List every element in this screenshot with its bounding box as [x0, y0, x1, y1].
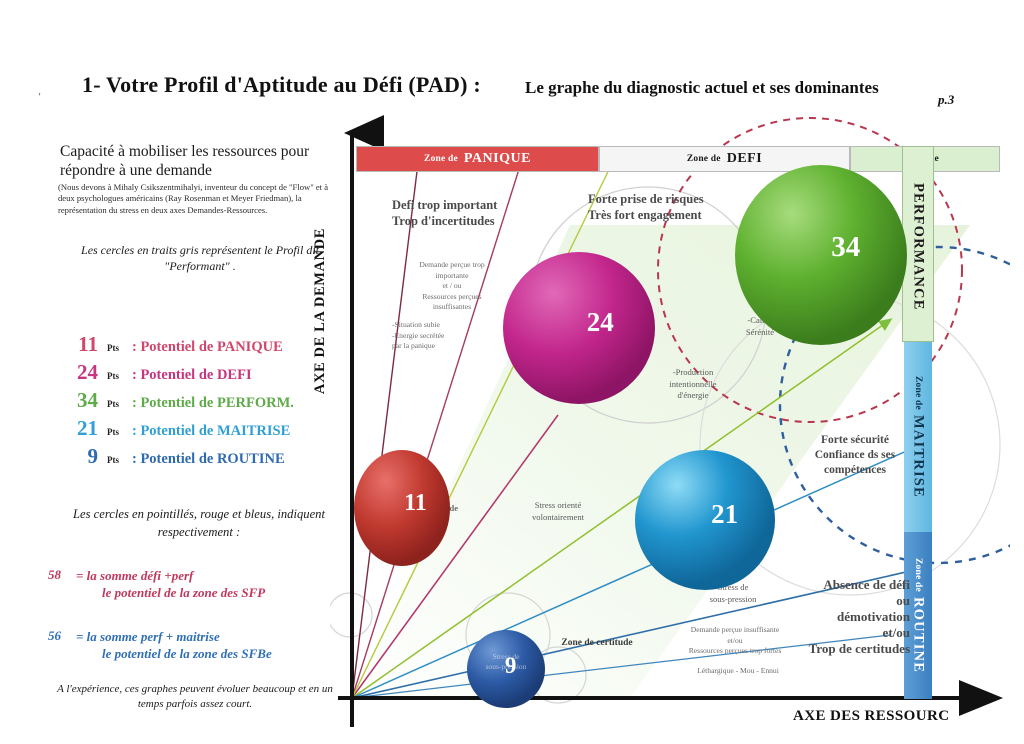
grey-circles-note: Les cercles en traits gris représentent …	[70, 242, 330, 274]
zone-right-performance-big: PERFORMANCE	[910, 178, 927, 311]
annotation-lethargique: Léthargique - Mou - Ennui	[668, 666, 808, 677]
bubble-routine-9[interactable]: Stress de sous-pression 9	[467, 630, 545, 708]
sum-value: 58	[48, 567, 61, 583]
sum-value: 56	[48, 628, 61, 644]
legend-label: : Potentiel de PERFORM.	[123, 395, 294, 412]
annotation-panique-detail: Demande perçue trop importante et / ou R…	[392, 260, 512, 313]
zone-top-panique: Zone de PANIQUE	[356, 146, 599, 172]
zone-right-maitrise-small: Zone de	[913, 376, 923, 410]
sum-line2: le potentiel de la zone des SFP	[76, 584, 265, 601]
bubble-maitrise-value: 21	[711, 499, 738, 530]
dotted-circles-note: Les cercles en pointillés, rouge et bleu…	[68, 505, 330, 541]
page-number: p.3	[938, 92, 954, 108]
legend-label: : Potentiel de PANIQUE	[123, 339, 283, 356]
legend-unit: Pts	[102, 455, 119, 465]
bubble-defi-24[interactable]: 24	[503, 252, 655, 405]
annotation-panique-detail2: -Situation subie -Energie secrétée par l…	[392, 320, 512, 352]
sum-line1: = la somme défi +perf	[76, 568, 193, 583]
legend-value: 21	[62, 416, 98, 441]
bubble-defi-value: 24	[587, 307, 614, 338]
experience-note: A l'expérience, ces graphes peuvent évol…	[50, 682, 340, 712]
annotation-panique-head: Defi trop important Trop d'incertitudes	[392, 197, 497, 229]
bubble-performance-34[interactable]: 34	[735, 165, 908, 345]
zone-top-panique-small: Zone de	[424, 154, 458, 164]
zone-right-routine-small: Zone de	[913, 558, 923, 592]
legend-value: 11	[62, 332, 98, 357]
bubble-panique-value: 11	[404, 490, 427, 517]
document-page: ' 1- Votre Profil d'Aptitude au Défi (PA…	[0, 0, 1024, 744]
bubble-performance-value: 34	[831, 231, 860, 264]
left-sidebar: Capacité à mobiliser les ressources pour…	[40, 130, 340, 720]
zone-top-defi-small: Zone de	[687, 154, 721, 164]
annotation-absence-defi: Absence de défi ou démotivation et/ou Tr…	[780, 577, 910, 657]
stray-mark: '	[38, 92, 40, 103]
legend-item-panique: 11 Pts : Potentiel de PANIQUE	[62, 332, 352, 360]
pad-chart: Zone de PANIQUE Zone de DEFI Zone de PER…	[330, 115, 1010, 735]
zone-right-routine-big: ROUTINE	[910, 592, 927, 673]
y-axis-label: AXE DE LA DEMANDE	[312, 228, 329, 394]
annotation-zone-certitude: Zone de certitude	[542, 638, 652, 650]
bubble-maitrise-21[interactable]: 21	[635, 450, 775, 590]
legend-unit: Pts	[102, 371, 119, 381]
page-subtitle: Le graphe du diagnostic actuel et ses do…	[525, 78, 879, 98]
zone-top-panique-big: PANIQUE	[458, 151, 531, 167]
bubble-panique-11[interactable]: 11	[354, 450, 450, 566]
legend-label: : Potentiel de ROUTINE	[123, 451, 285, 468]
annotation-defi-head: Forte prise de risques Très fort engagem…	[588, 191, 704, 223]
sum-line2: le potentiel de la zone des SFBe	[76, 645, 272, 662]
legend-value: 34	[62, 388, 98, 413]
legend-unit: Pts	[102, 343, 119, 353]
page-title: 1- Votre Profil d'Aptitude au Défi (PAD)…	[82, 72, 481, 98]
legend-label: : Potentiel de MAITRISE	[123, 423, 290, 440]
legend-unit: Pts	[102, 427, 119, 437]
legend-item-routine: 9 Pts : Potentiel de ROUTINE	[62, 444, 352, 472]
annotation-securite: Forte sécurité Confiance ds ses compéten…	[800, 433, 910, 478]
annotation-production: -Production intentionnelle d'énergie	[648, 367, 738, 402]
annotation-stress-oriente: Stress orienté volontairement	[508, 500, 608, 523]
legend-unit: Pts	[102, 399, 119, 409]
legend-value: 9	[62, 444, 98, 469]
capacity-body: (Nous devons à Mihaly Csikszentmihalyi, …	[58, 182, 330, 216]
legend-item-perform: 34 Pts : Potentiel de PERFORM.	[62, 388, 352, 416]
zone-right-maitrise-big: MAITRISE	[910, 410, 927, 498]
capacity-title: Capacité à mobiliser les ressources pour…	[60, 142, 332, 180]
bubble-routine-value: 9	[505, 653, 517, 679]
legend-value: 24	[62, 360, 98, 385]
potential-legend: 11 Pts : Potentiel de PANIQUE 24 Pts : P…	[62, 332, 352, 472]
legend-label: : Potentiel de DEFI	[123, 367, 252, 384]
legend-item-maitrise: 21 Pts : Potentiel de MAITRISE	[62, 416, 352, 444]
legend-item-defi: 24 Pts : Potentiel de DEFI	[62, 360, 352, 388]
sum-line1: = la somme perf + maitrise	[76, 629, 220, 644]
